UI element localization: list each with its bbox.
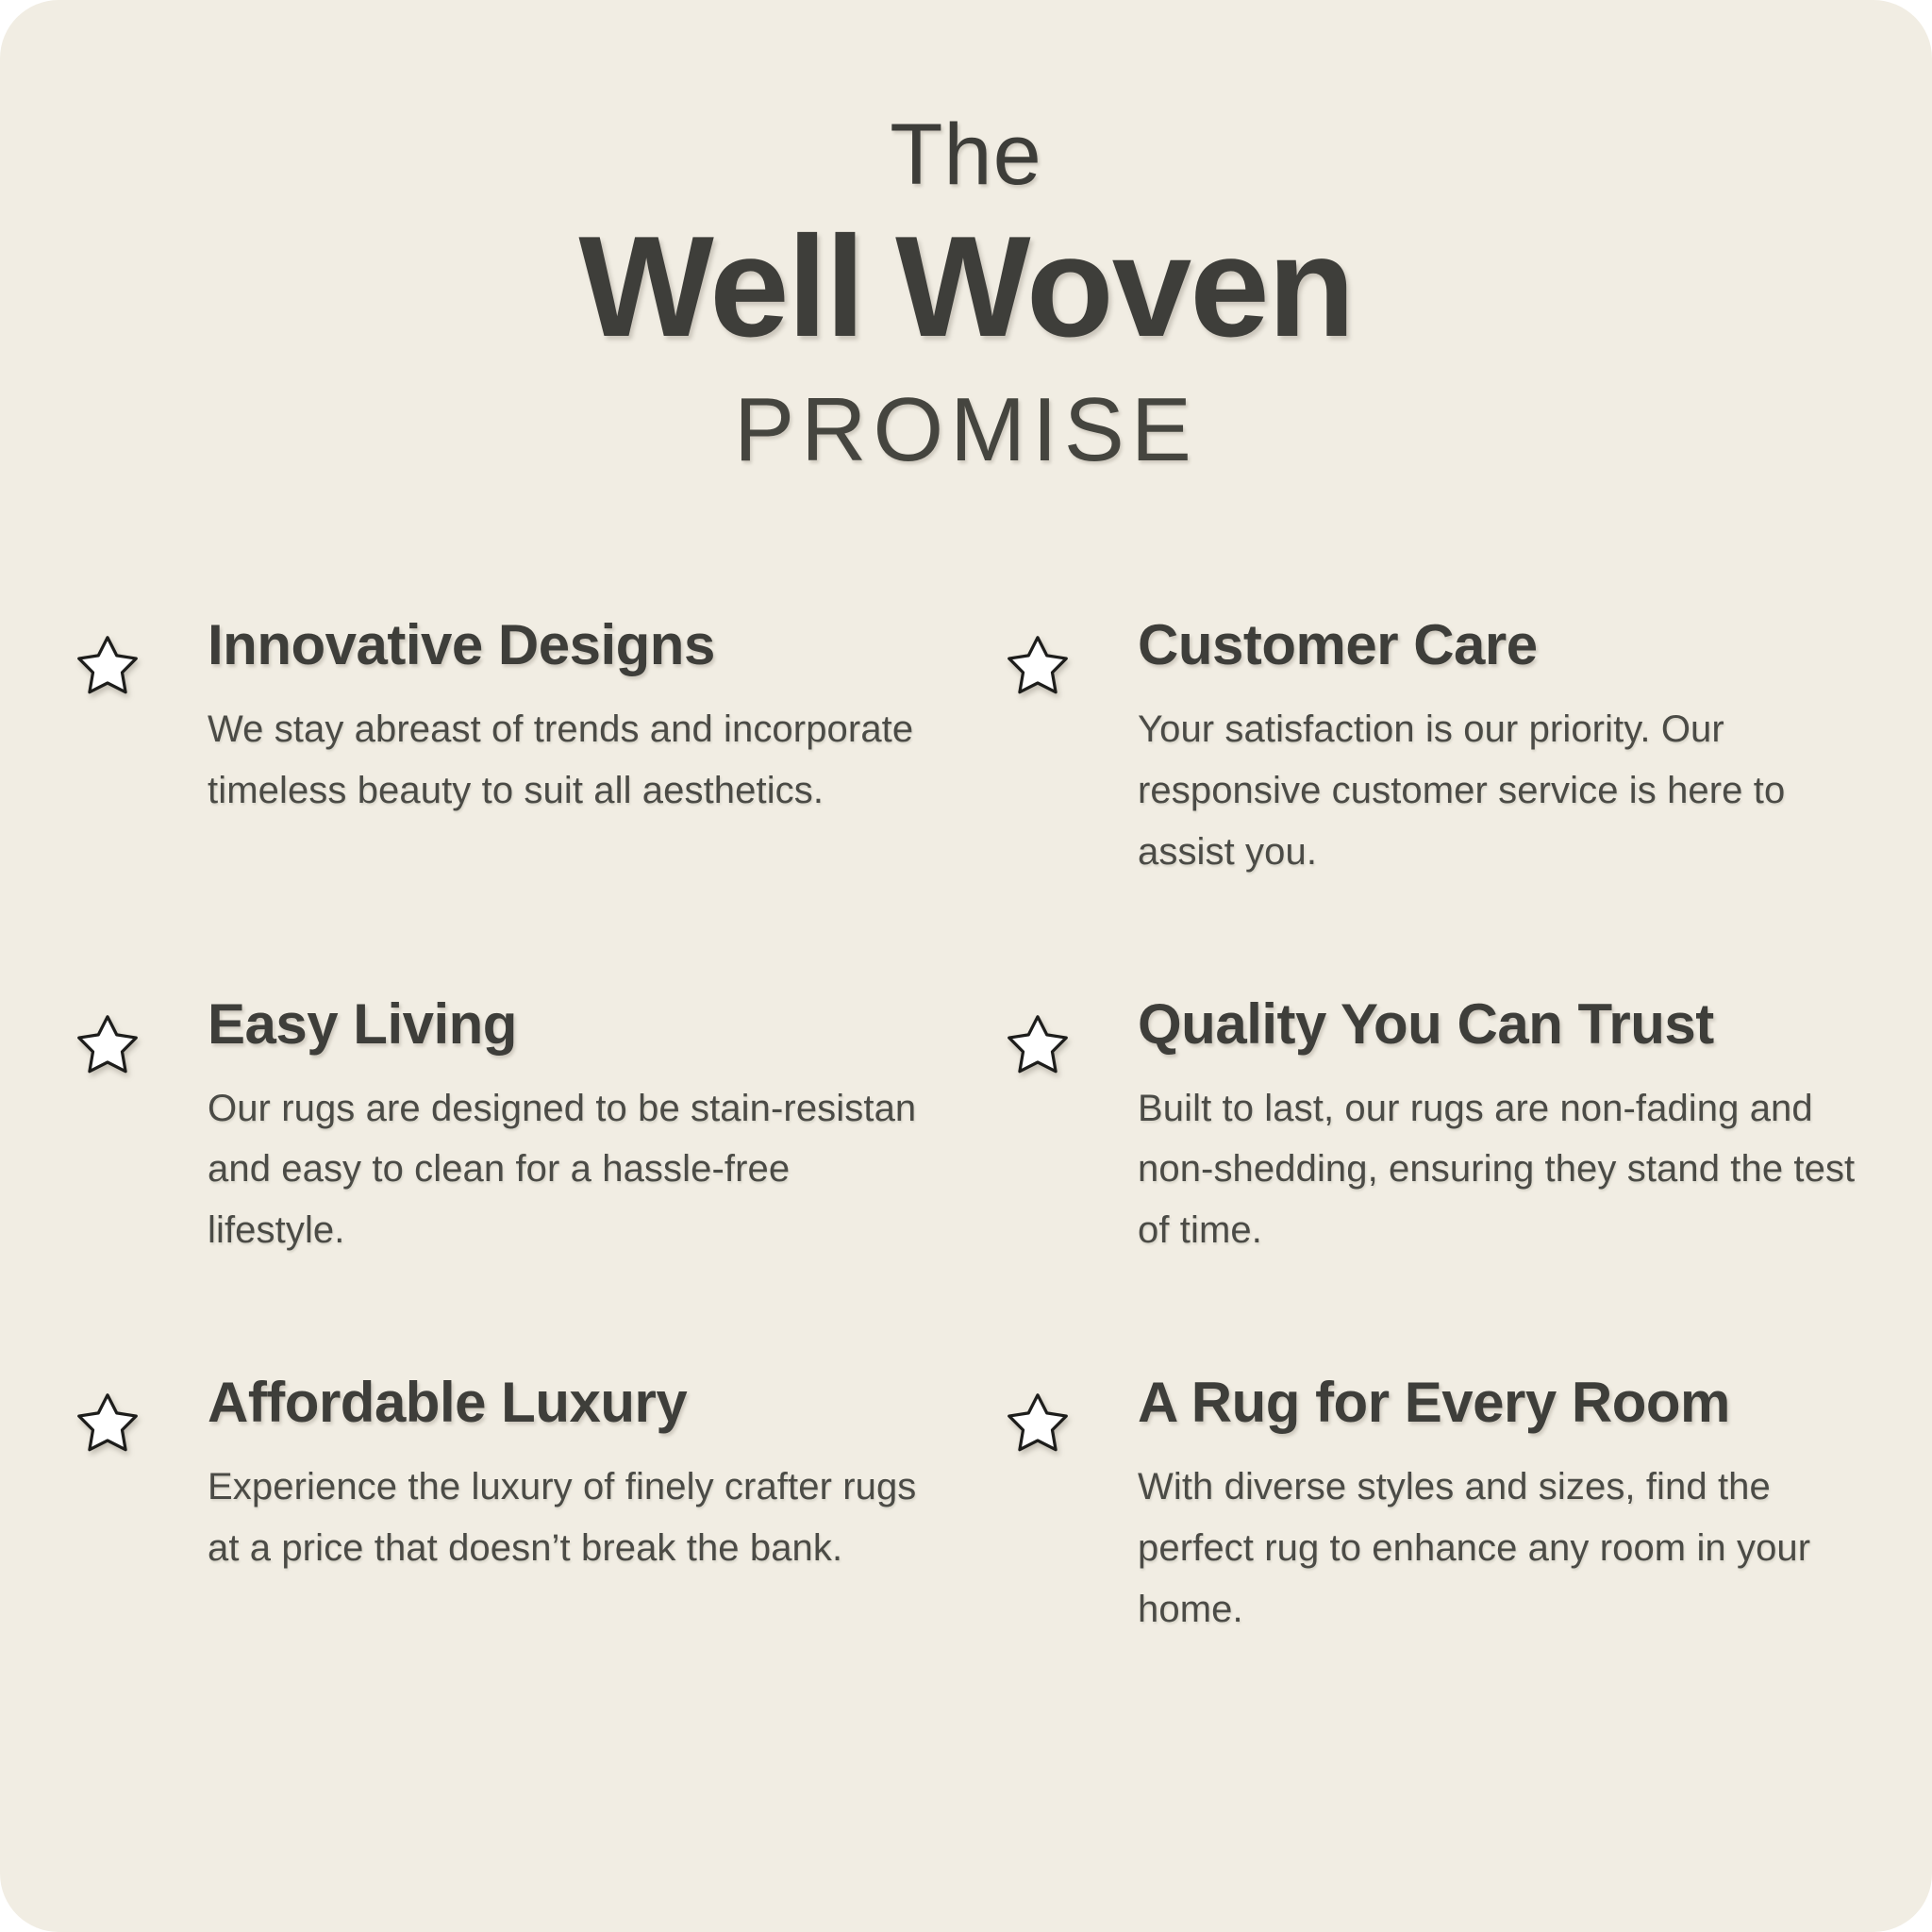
feature-description: We stay abreast of trends and incorporat… — [208, 699, 924, 822]
feature-title: Innovative Designs — [208, 615, 930, 675]
feature-title: Customer Care — [1138, 615, 1860, 675]
feature-description: With diverse styles and sizes, find the … — [1138, 1457, 1860, 1640]
feature-body: Easy Living Our rugs are designed to be … — [160, 994, 930, 1261]
brand-name: Well Woven — [0, 209, 1932, 364]
star-outline-icon — [74, 615, 160, 700]
promise-header: The Well Woven PROMISE — [0, 0, 1932, 475]
feature-description: Our rugs are designed to be stain-resist… — [208, 1078, 924, 1261]
feature-title: A Rug for Every Room — [1138, 1373, 1860, 1432]
feature-item: Affordable Luxury Experience the luxury … — [74, 1373, 930, 1640]
feature-title: Easy Living — [208, 994, 930, 1054]
feature-item: A Rug for Every Room With diverse styles… — [1004, 1373, 1860, 1640]
feature-body: Affordable Luxury Experience the luxury … — [160, 1373, 930, 1579]
star-outline-icon — [1004, 1373, 1091, 1457]
feature-title: Quality You Can Trust — [1138, 994, 1860, 1054]
feature-body: Innovative Designs We stay abreast of tr… — [160, 615, 930, 822]
well-woven-promise-card: The Well Woven PROMISE Innovative Design… — [0, 0, 1932, 1932]
brand-word-woven: Woven — [895, 207, 1353, 367]
feature-item: Customer Care Your satisfaction is our p… — [1004, 615, 1860, 882]
feature-item: Quality You Can Trust Built to last, our… — [1004, 994, 1860, 1261]
feature-item: Easy Living Our rugs are designed to be … — [74, 994, 930, 1261]
header-promise-word: PROMISE — [0, 385, 1932, 475]
feature-body: A Rug for Every Room With diverse styles… — [1091, 1373, 1860, 1640]
star-outline-icon — [1004, 615, 1091, 700]
star-outline-icon — [74, 994, 160, 1079]
brand-word-well: Well — [578, 207, 863, 367]
star-outline-icon — [74, 1373, 160, 1457]
feature-description: Built to last, our rugs are non-fading a… — [1138, 1078, 1860, 1261]
feature-body: Quality You Can Trust Built to last, our… — [1091, 994, 1860, 1261]
star-outline-icon — [1004, 994, 1091, 1079]
feature-item: Innovative Designs We stay abreast of tr… — [74, 615, 930, 882]
feature-description: Your satisfaction is our priority. Our r… — [1138, 699, 1860, 882]
header-eyebrow: The — [0, 111, 1932, 198]
feature-body: Customer Care Your satisfaction is our p… — [1091, 615, 1860, 882]
feature-title: Affordable Luxury — [208, 1373, 930, 1432]
feature-description: Experience the luxury of finely crafter … — [208, 1457, 924, 1579]
promise-feature-grid: Innovative Designs We stay abreast of tr… — [0, 615, 1932, 1640]
